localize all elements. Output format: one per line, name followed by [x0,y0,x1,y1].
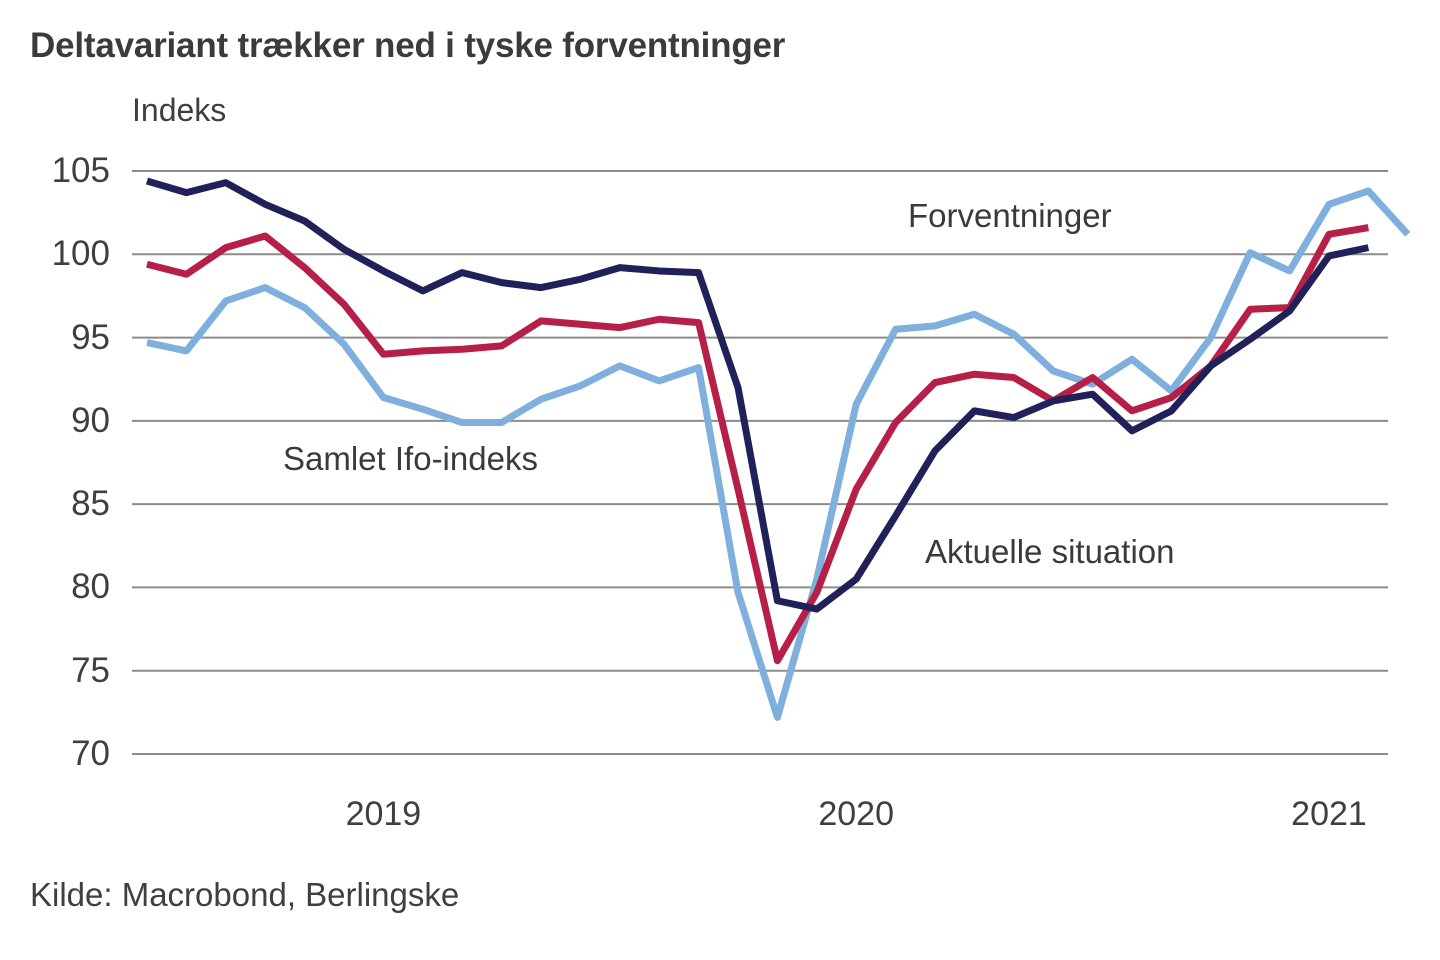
series-line-aktuelle-situation [147,181,1368,609]
y-axis-tick-label: 80 [10,567,110,607]
series-label-aktuelle-situation: Aktuelle situation [925,533,1174,571]
y-axis-tick-label: 70 [10,734,110,774]
line-chart-canvas [0,0,1440,960]
x-axis-tick-label: 2021 [1291,795,1367,834]
y-axis-tick-label: 90 [10,401,110,441]
x-axis-tick-label: 2020 [818,795,894,834]
source-note: Kilde: Macrobond, Berlingske [30,876,459,914]
series-label-samlet-ifo-indeks: Samlet Ifo-indeks [283,440,538,478]
series-label-forventninger: Forventninger [908,197,1112,235]
y-axis-tick-label: 105 [10,151,110,191]
y-axis-tick-label: 75 [10,651,110,691]
y-axis-tick-label: 100 [10,234,110,274]
y-axis-tick-label: 85 [10,484,110,524]
chart-page: Deltavariant trækker ned i tyske forvent… [0,0,1440,960]
x-axis-tick-label: 2019 [346,795,422,834]
y-axis-tick-label: 95 [10,318,110,358]
